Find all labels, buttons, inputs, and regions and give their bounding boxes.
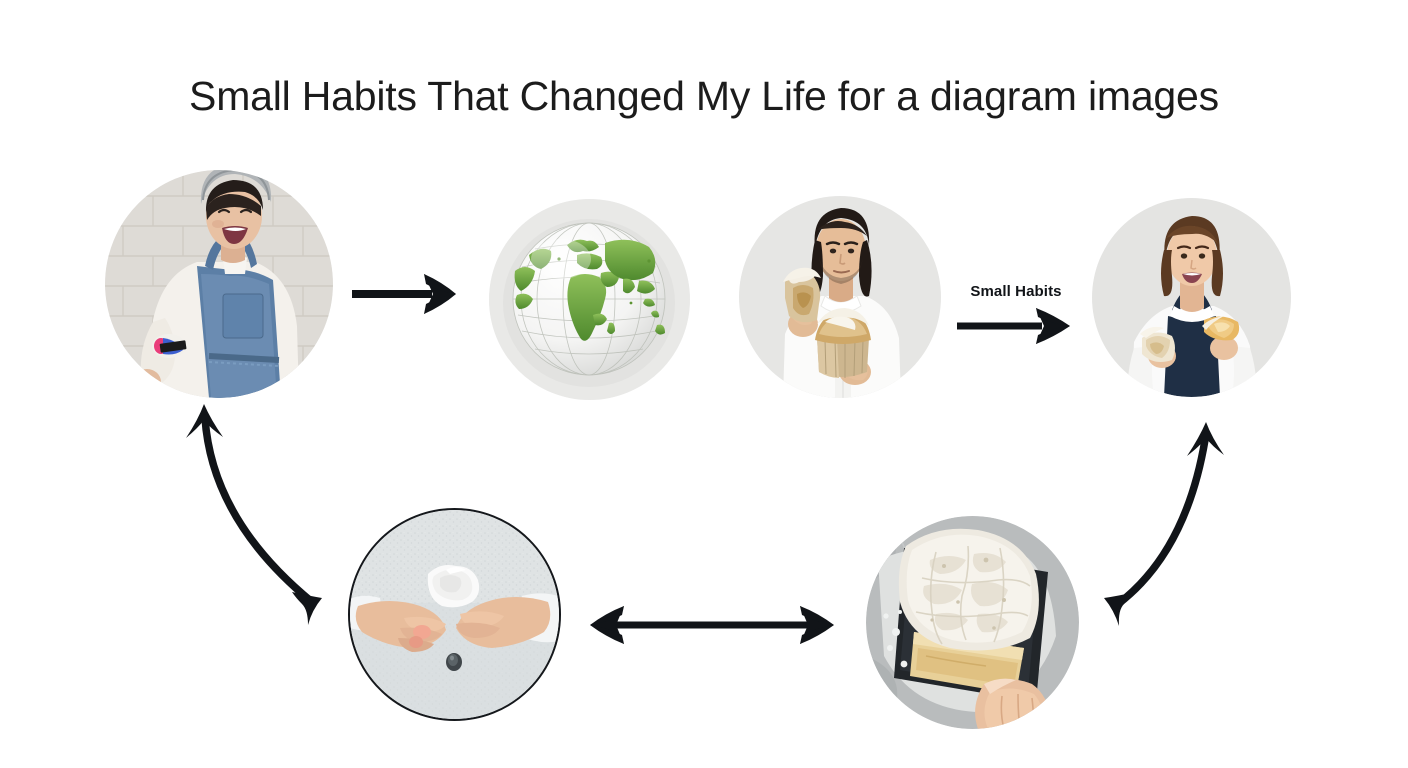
globe-image	[489, 199, 690, 400]
node-globe[interactable]	[489, 199, 690, 400]
edge-hands-cake	[590, 606, 834, 644]
node-baker-woman-apron[interactable]	[105, 170, 333, 398]
node-woman-bread[interactable]	[1092, 198, 1291, 397]
hands-dough-image	[350, 510, 559, 719]
page-title: Small Habits That Changed My Life for a …	[0, 74, 1408, 119]
edge-cake-woman	[1104, 422, 1224, 626]
edge-baker-to-globe	[352, 274, 456, 314]
edge-chef-to-woman	[957, 308, 1070, 344]
edge-label-small-habits: Small Habits	[955, 283, 1077, 300]
chef-panettone-image	[739, 196, 941, 398]
meringue-cake-image	[866, 516, 1079, 729]
diagram-canvas: Small Habits That Changed My Life for a …	[0, 0, 1408, 768]
edge-baker-hands	[186, 404, 322, 625]
node-meringue-cake[interactable]	[866, 516, 1079, 729]
node-chef-panettone[interactable]	[739, 196, 941, 398]
node-hands-dough[interactable]	[348, 508, 561, 721]
woman-bread-image	[1092, 198, 1291, 397]
baker-woman-image	[105, 170, 333, 398]
